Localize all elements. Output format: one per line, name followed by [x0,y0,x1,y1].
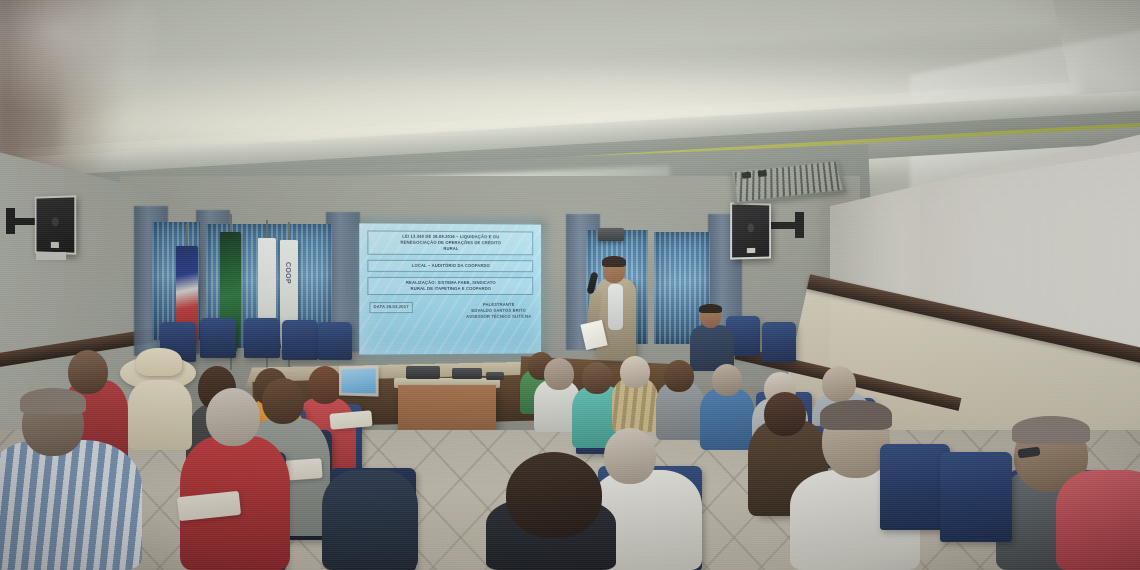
attendee-brown-shirt-head [764,392,806,436]
straw-hat-crown [136,348,182,376]
av-equipment-3 [486,372,504,380]
speaker-cone [52,217,59,227]
projection-screen: LEI 13.340 DE 28.09.2016 – LIQUIDAÇÃO E … [359,223,541,354]
vent-hole-2 [757,170,767,177]
attendee-straw-hat-torso [128,380,192,450]
attendee-red-polo-head [206,388,260,446]
attendee-striped-shirt-hair [20,388,86,414]
speaker-bracket-post-left [6,208,15,234]
laptop-screen [341,369,375,394]
slide-realizacao-2: RURAL DE ITAPETINGA E COOPARDO [373,286,527,292]
attendee-plaid-shirt-head [620,356,650,388]
attendee-red-shirt-upper-head [68,350,108,394]
attendee-blue-shirt-torso [700,388,754,450]
chair-empty-7 [762,322,796,362]
slide-title-box: LEI 13.340 DE 28.09.2016 – LIQUIDAÇÃO E … [367,230,533,255]
attendee-pink-shirt-torso [1056,470,1140,570]
auditorium-photo: COOP LEI 13.340 DE 28.09.2016 – LIQUIDAÇ… [0,0,1140,570]
slide-speaker-block: PALESTRANTE EDVALDO SANTOS BRITO ASSESSO… [466,302,531,320]
speaker-bracket-arm-right [771,222,797,229]
av-equipment-1 [406,366,440,379]
attendee-grey-shirt-head [262,378,304,424]
chair-empty-1 [244,318,280,358]
attendee-red-laptop-user-head [308,366,342,404]
attendee-teal-shirt-head [582,362,612,394]
chair-right-empty-2 [940,452,1012,542]
chair-empty-2 [282,320,318,360]
chair-empty-3 [318,322,352,360]
attendee-white-back-head [544,358,574,390]
slide-date: DATA 28.03.2017 [373,304,408,310]
wall-speaker-left-icon [35,195,76,254]
chair-tablet-arm-1 [329,410,372,430]
chair-empty-4 [200,318,236,358]
attendee-blue-shirt-head [712,364,742,396]
av-equipment-2 [452,368,482,379]
laptop-icon [339,365,379,396]
slide-local: LOCAL – AUDITÓRIO DA COOPARDO [373,263,527,269]
slide-palestrante-role: ASSESSOR TÉCNICO SUT/CNA [466,313,531,319]
slide-content: LEI 13.340 DE 28.09.2016 – LIQUIDAÇÃO E … [359,223,541,354]
slide-local-box: LOCAL – AUDITÓRIO DA COOPARDO [367,260,533,272]
presenter-hair [602,256,626,267]
speaker-bracket-post-right [795,212,804,238]
attendee-foreground-dark-head [506,452,602,538]
slide-realizacao-box: REALIZAÇÃO: SISTEMA FAEB, SINDICATO RURA… [367,277,533,295]
wall-speaker-right-icon [730,202,771,259]
speaker-cone [748,223,755,232]
slide-line-3: RURAL [373,246,527,253]
attendee-center-left-torso [322,470,418,570]
slide-date-box: DATA 28.03.2017 [369,302,412,313]
attendee-front-dark-blue-hair [699,304,722,313]
presenter-shirt [608,284,623,330]
speaker-badge [51,242,59,248]
vent-hole-1 [742,172,752,179]
attendee-white-polo-head [604,428,656,484]
attendee-dark-grey-hair [1012,416,1090,444]
attendee-light-grey-head [664,360,694,392]
attendee-striped-shirt-torso [0,440,142,570]
flag-logo-text: COOP [283,262,291,284]
slide-footer: DATA 28.03.2017 PALESTRANTE EDVALDO SANT… [367,302,533,320]
speaker-mount-left [36,252,66,260]
attendee-white-polo-2-hair [820,400,892,430]
attendee-light-blue-right-head [822,366,856,402]
speaker-badge [747,248,755,254]
projector-icon [598,228,624,241]
